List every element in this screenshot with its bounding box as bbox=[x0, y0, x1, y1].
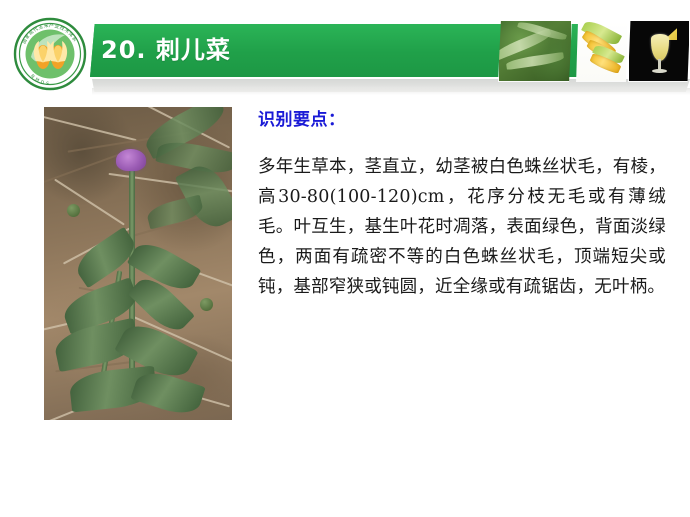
corn-juice-photo bbox=[628, 20, 690, 82]
slide-canvas: 20. 刺儿菜 国家现代玉米产业技术体 bbox=[0, 0, 690, 517]
corn-juice-art bbox=[629, 21, 689, 81]
slide-header: 20. 刺儿菜 国家现代玉米产业技术体 bbox=[0, 0, 690, 95]
corn-industry-emblem-logo: 国家现代玉米产业技术体系 NMDS bbox=[13, 17, 87, 91]
identification-paragraph: 多年生草本，茎直立，幼茎被白色蛛丝状毛，有棱，高30-80(100-120)cm… bbox=[258, 152, 666, 302]
logo-svg: 国家现代玉米产业技术体系 NMDS bbox=[13, 17, 87, 91]
corn-cobs-art bbox=[577, 21, 627, 81]
corn-leaves-art bbox=[499, 21, 571, 81]
corn-cobs-photo bbox=[576, 20, 628, 82]
thistle-plant-photo bbox=[44, 107, 232, 420]
glass-bowl bbox=[651, 34, 669, 60]
description-column: 识别要点： 多年生草本，茎直立，幼茎被白色蛛丝状毛，有棱，高30-80(100-… bbox=[258, 108, 666, 302]
thistle-flower bbox=[116, 149, 146, 171]
header-reflection-fade bbox=[92, 88, 690, 95]
page-title: 20. 刺儿菜 bbox=[101, 29, 231, 71]
header-photo-strip bbox=[494, 20, 690, 82]
identification-heading: 识别要点： bbox=[258, 108, 666, 132]
glass-foot bbox=[652, 69, 667, 73]
corn-leaves-photo bbox=[498, 20, 572, 82]
